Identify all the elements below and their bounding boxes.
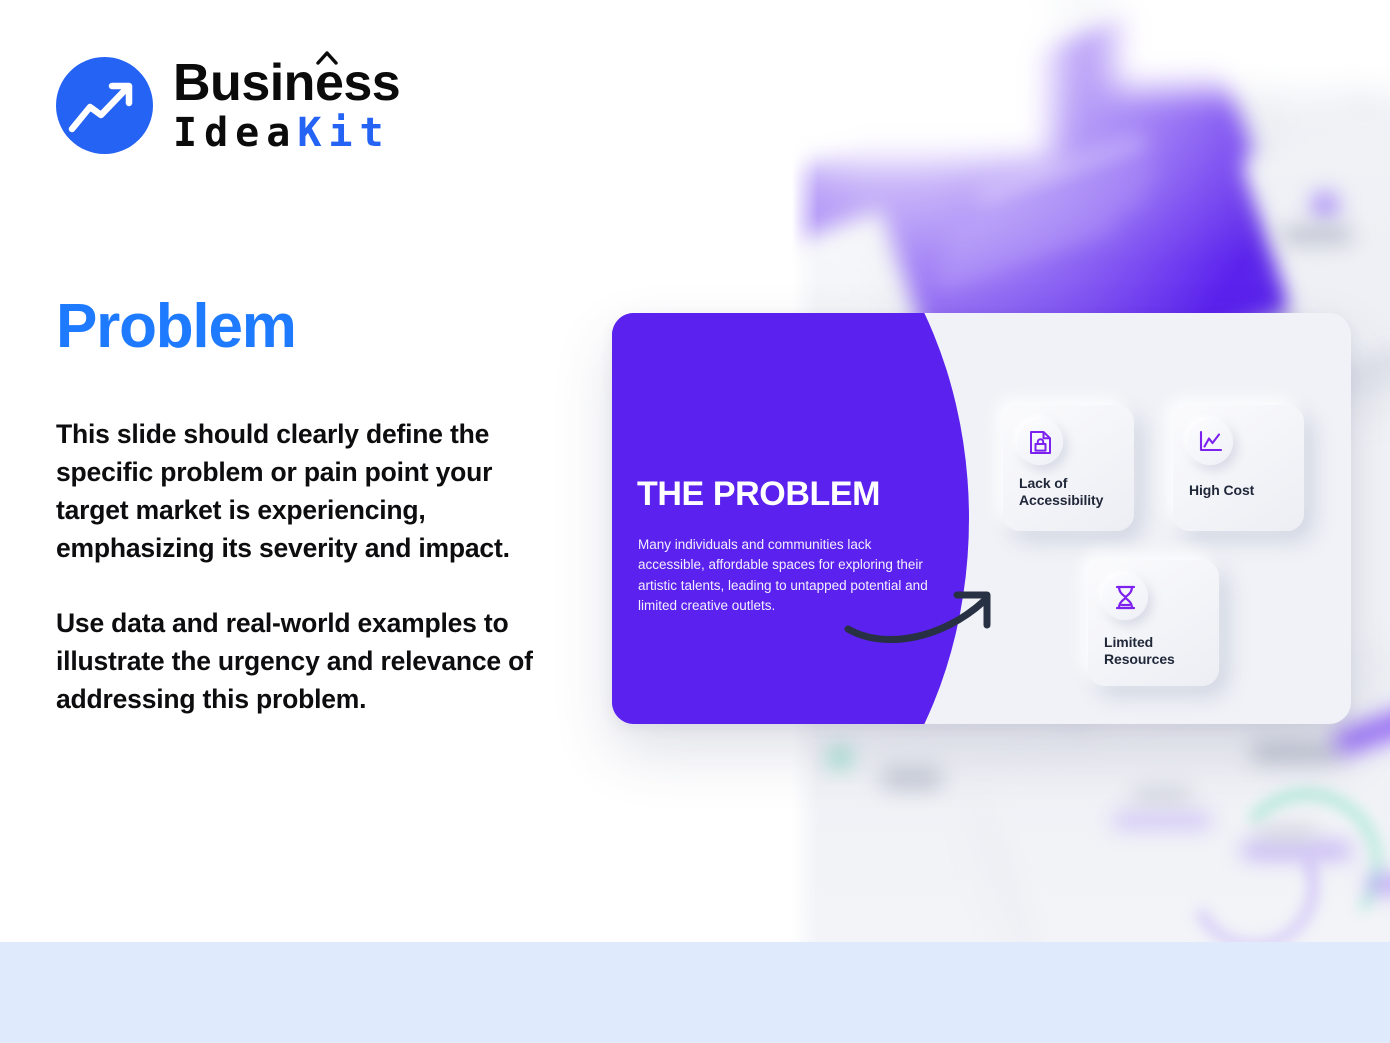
growth-arrow-circle-icon (56, 57, 153, 154)
brand-name-secondary: IdeaKit (173, 112, 400, 154)
brand-name-kit: Kit (297, 110, 390, 156)
feature-card-limited-resources[interactable]: Limited Resources (1088, 560, 1219, 686)
slide-template-preview: Business IdeaKit Problem This slide shou… (0, 0, 1390, 1043)
purple-circle-shape (612, 313, 969, 724)
slide-heading: THE PROBLEM (637, 475, 967, 514)
feature-label: High Cost (1189, 482, 1294, 499)
line-chart-icon (1187, 419, 1233, 465)
slide-preview-card[interactable]: THE PROBLEM Many individuals and communi… (612, 313, 1351, 724)
brand-caret-accent (315, 50, 339, 66)
brand-name-primary: Business (173, 57, 400, 110)
description-paragraph-1: This slide should clearly define the spe… (56, 415, 568, 568)
description-block: This slide should clearly define the spe… (56, 415, 568, 718)
hourglass-icon (1102, 574, 1148, 620)
brand-logo[interactable]: Business IdeaKit (56, 57, 400, 154)
brand-name-business: Business (173, 54, 400, 112)
description-paragraph-2: Use data and real-world examples to illu… (56, 604, 568, 718)
curved-arrow-icon (844, 583, 1006, 649)
brand-name-idea: Idea (173, 110, 297, 156)
feature-label: Lack of Accessibility (1019, 475, 1124, 509)
feature-card-lack-of-accessibility[interactable]: Lack of Accessibility (1003, 405, 1134, 531)
feature-label: Limited Resources (1104, 634, 1209, 668)
footer-bar (0, 942, 1390, 1043)
feature-card-high-cost[interactable]: High Cost (1173, 405, 1304, 531)
document-lock-icon (1017, 419, 1063, 465)
page-title: Problem (56, 296, 296, 358)
